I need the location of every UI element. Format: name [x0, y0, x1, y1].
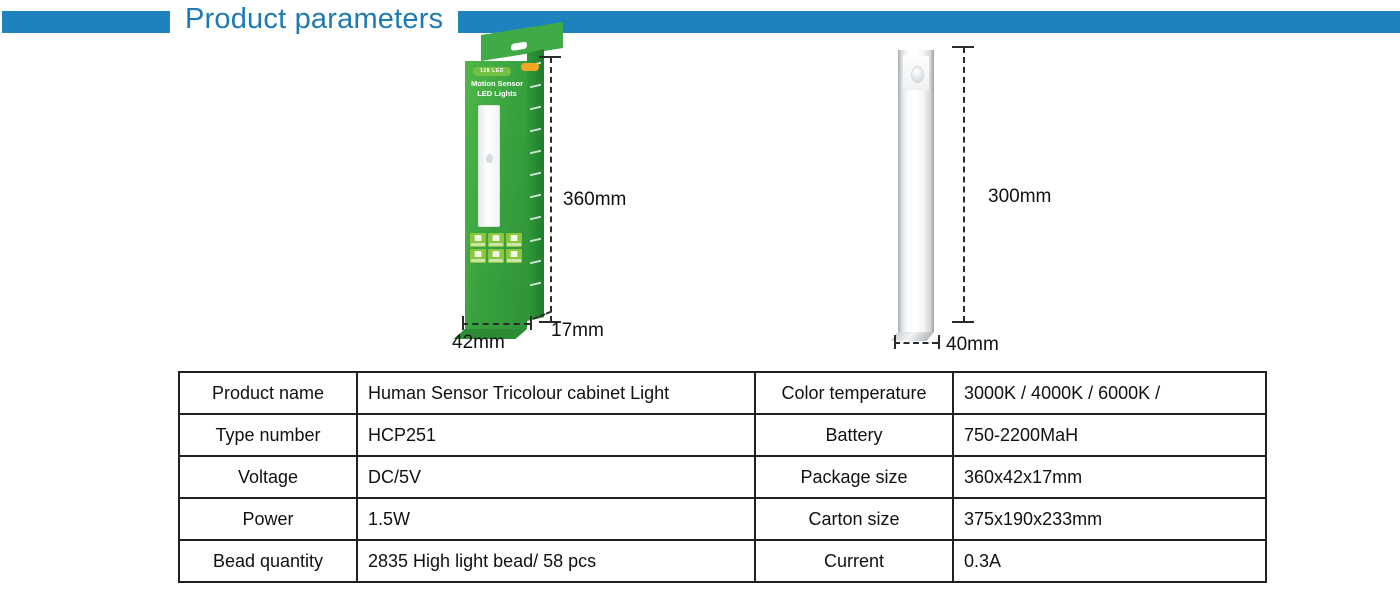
product-parameters-table: Product name Human Sensor Tricolour cabi… [178, 371, 1267, 583]
package-height-dimension-line [550, 57, 552, 322]
table-row: Type number HCP251 Battery 750-2200MaH [179, 414, 1266, 456]
package-side-checklist [527, 49, 544, 321]
package-led-count-label: 128 LED [473, 67, 511, 76]
spec-key: Voltage [179, 456, 357, 498]
spec-key: Product name [179, 372, 357, 414]
package-feature-icon-5 [488, 249, 504, 263]
package-product-illustration [478, 105, 500, 227]
lightbar-height-label: 300mm [988, 186, 1051, 208]
light-bar-sensor-window [903, 56, 929, 90]
package-side-face [527, 49, 544, 321]
lightbar-width-right-cap [938, 335, 940, 349]
spec-key: Bead quantity [179, 540, 357, 582]
spec-key: Power [179, 498, 357, 540]
package-width-dimension-line [462, 323, 530, 325]
spec-key: Type number [179, 414, 357, 456]
spec-key: Package size [755, 456, 953, 498]
spec-key: Color temperature [755, 372, 953, 414]
package-product-sensor-dome [486, 154, 493, 163]
package-height-label: 360mm [563, 189, 626, 211]
lightbar-width-dimension-line [894, 342, 938, 344]
package-feature-icon-grid [470, 233, 522, 263]
table-row: Bead quantity 2835 High light bead/ 58 p… [179, 540, 1266, 582]
light-bar-bottom-face [890, 332, 934, 341]
package-width-label: 42mm [452, 332, 505, 354]
table-row: Power 1.5W Carton size 375x190x233mm [179, 498, 1266, 540]
product-figures: 128 LED Motion Sensor LED Lights 360mm 4… [0, 0, 1400, 370]
spec-key: Battery [755, 414, 953, 456]
spec-value: HCP251 [357, 414, 755, 456]
motion-sensor-icon [911, 66, 924, 83]
spec-value: 360x42x17mm [953, 456, 1266, 498]
package-headline-line-2: LED Lights [469, 89, 525, 99]
package-led-count-badge: 128 LED [473, 67, 511, 76]
spec-value: 2835 High light bead/ 58 pcs [357, 540, 755, 582]
package-headline: Motion Sensor LED Lights [469, 79, 525, 98]
package-feature-icon-1 [470, 233, 486, 247]
spec-value: DC/5V [357, 456, 755, 498]
lightbar-height-dimension-line [963, 47, 965, 322]
package-headline-line-1: Motion Sensor [469, 79, 525, 89]
spec-value: 3000K / 4000K / 6000K / [953, 372, 1266, 414]
spec-key: Current [755, 540, 953, 582]
spec-value: 0.3A [953, 540, 1266, 582]
spec-value: 375x190x233mm [953, 498, 1266, 540]
light-bar-left-edge [898, 50, 902, 332]
spec-value: Human Sensor Tricolour cabinet Light [357, 372, 755, 414]
table-row: Product name Human Sensor Tricolour cabi… [179, 372, 1266, 414]
spec-value: 1.5W [357, 498, 755, 540]
package-depth-label: 17mm [551, 320, 604, 342]
package-feature-icon-4 [470, 249, 486, 263]
light-bar-right-edge [929, 50, 934, 332]
package-corner-badge [521, 63, 539, 71]
package-feature-icon-3 [506, 233, 522, 247]
spec-key: Carton size [755, 498, 953, 540]
spec-table-body: Product name Human Sensor Tricolour cabi… [179, 372, 1266, 582]
package-feature-icon-2 [488, 233, 504, 247]
lightbar-width-label: 40mm [946, 334, 999, 356]
lightbar-height-bottom-cap [952, 321, 974, 323]
retail-package-figure: 128 LED Motion Sensor LED Lights [455, 35, 585, 335]
table-row: Voltage DC/5V Package size 360x42x17mm [179, 456, 1266, 498]
spec-value: 750-2200MaH [953, 414, 1266, 456]
light-bar-body [898, 50, 934, 332]
package-feature-icon-6 [506, 249, 522, 263]
